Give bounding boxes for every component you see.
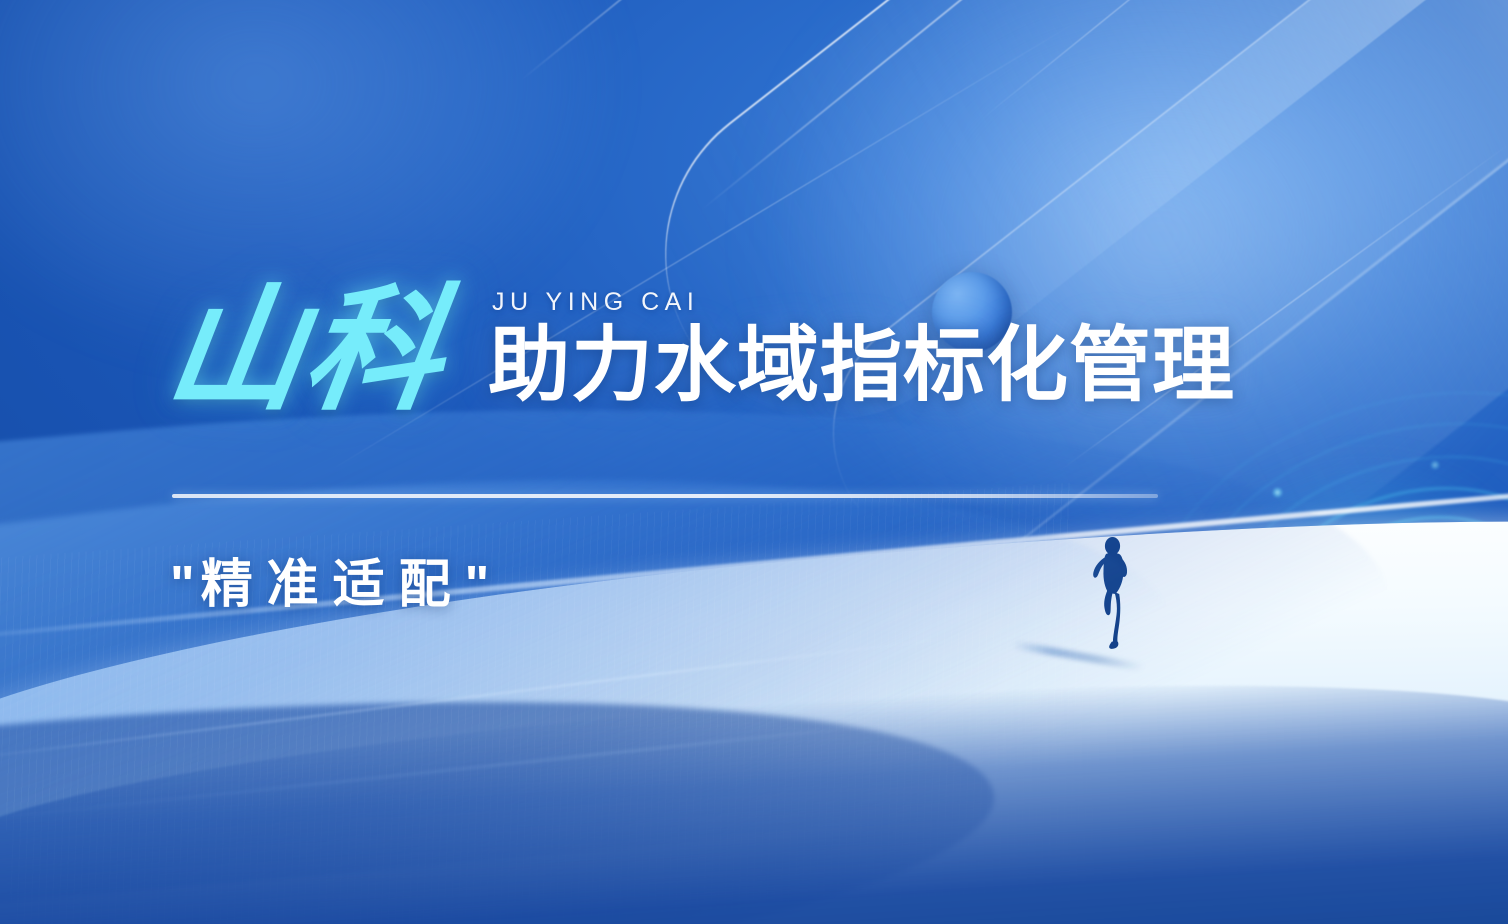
- brand-block: 山科 JU YING CAI 助力水域指标化管理: [168, 288, 1235, 414]
- brand-pinyin: JU YING CAI: [492, 288, 1235, 317]
- brand-logo-text: 山科: [159, 289, 453, 414]
- headline-divider: [172, 494, 1158, 498]
- banner-content: 山科 JU YING CAI 助力水域指标化管理 "精准适配": [0, 0, 1508, 924]
- brand-right-block: JU YING CAI 助力水域指标化管理: [488, 288, 1235, 414]
- tagline-block: "精准适配": [170, 542, 495, 617]
- tagline-open-quote: ": [170, 556, 201, 614]
- tagline-text: 精准适配: [201, 555, 465, 615]
- tagline-close-quote: ": [465, 556, 496, 614]
- promo-banner: 山科 JU YING CAI 助力水域指标化管理 "精准适配": [0, 0, 1508, 924]
- headline-text: 助力水域指标化管理: [488, 323, 1235, 408]
